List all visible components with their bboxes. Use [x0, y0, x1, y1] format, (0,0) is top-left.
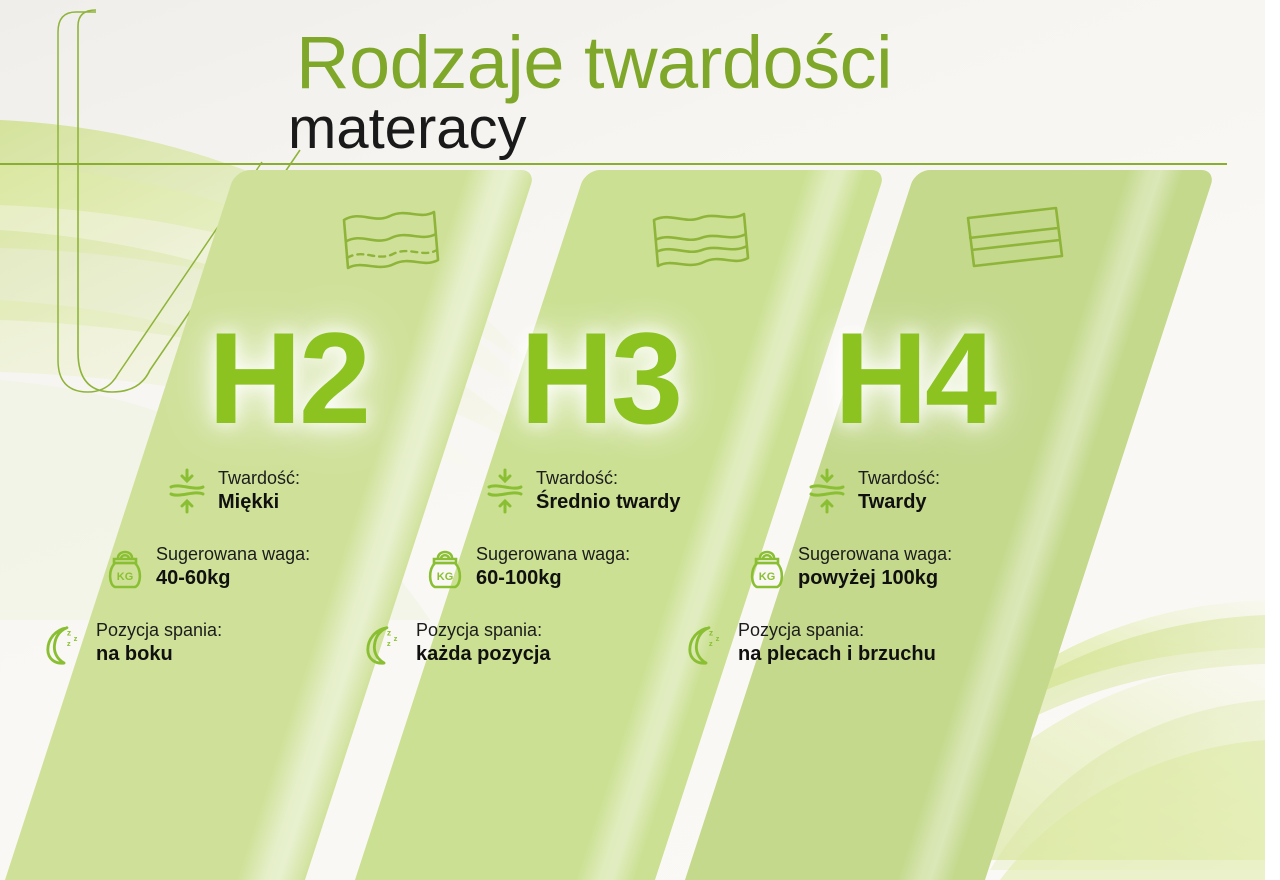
svg-text:z: z [67, 627, 71, 637]
fact-hardness-text-h3: Twardość: Średnio twardy [536, 468, 680, 514]
fact-weight-text-h4: Sugerowana waga: powyżej 100kg [798, 544, 952, 590]
fact-position-text-h4: Pozycja spania: na plecach i brzuchu [738, 620, 936, 666]
hardness-code-h4: H4 [834, 313, 1188, 443]
fact-hardness-text-h4: Twardość: Twardy [858, 468, 940, 514]
svg-text:z: z [394, 634, 398, 643]
kettlebell-kg-icon: KG [746, 543, 788, 591]
position-label-h3: Pozycja spania: [416, 620, 551, 642]
hardness-value-h2: Miękki [218, 490, 300, 514]
position-label-h2: Pozycja spania: [96, 620, 222, 642]
kettlebell-kg-icon: KG [424, 543, 466, 591]
compression-arrows-icon [166, 467, 208, 515]
fact-weight-text-h2: Sugerowana waga: 40-60kg [156, 544, 310, 590]
weight-value-h3: 60-100kg [476, 566, 630, 590]
hardness-label-h4: Twardość: [858, 468, 940, 490]
kettlebell-kg-text: KG [117, 571, 134, 583]
weight-label-h4: Sugerowana waga: [798, 544, 952, 566]
hardness-label-h3: Twardość: [536, 468, 680, 490]
fact-hardness-text-h2: Twardość: Miękki [218, 468, 300, 514]
svg-text:z: z [709, 627, 713, 637]
weight-label-h3: Sugerowana waga: [476, 544, 630, 566]
weight-value-h4: powyżej 100kg [798, 566, 952, 590]
compression-arrows-icon [484, 467, 526, 515]
kettlebell-kg-icon: KG [104, 543, 146, 591]
svg-text:z: z [387, 627, 391, 637]
title-divider [0, 163, 1227, 165]
hardness-label-h2: Twardość: [218, 468, 300, 490]
fact-position-text-h2: Pozycja spania: na boku [96, 620, 222, 666]
compression-arrows-icon [806, 467, 848, 515]
svg-text:z: z [709, 639, 713, 648]
position-label-h4: Pozycja spania: [738, 620, 936, 642]
weight-label-h2: Sugerowana waga: [156, 544, 310, 566]
mattress-flat-icon [952, 190, 1072, 290]
position-value-h2: na boku [96, 642, 222, 666]
fact-weight-text-h3: Sugerowana waga: 60-100kg [476, 544, 630, 590]
title-main: Rodzaje twardości [296, 28, 892, 98]
facts-list-h4: Twardość: Twardy KG [768, 467, 1188, 667]
sleeping-moon-icon: z z z [364, 619, 406, 667]
weight-value-h2: 40-60kg [156, 566, 310, 590]
sleeping-moon-icon: z z z [44, 619, 86, 667]
hardness-value-h4: Twardy [858, 490, 940, 514]
mattress-stitch-dashed-line [347, 250, 437, 258]
svg-text:z: z [716, 634, 720, 643]
svg-text:z: z [67, 639, 71, 648]
svg-text:KG: KG [759, 571, 776, 583]
infographic-poster: Rodzaje twardości materacy H2 [0, 0, 1280, 880]
position-value-h4: na plecach i brzuchu [738, 642, 936, 666]
position-value-h3: każda pozycja [416, 642, 551, 666]
fact-weight-h4: KG Sugerowana waga: powyżej 100kg [746, 543, 1188, 591]
svg-text:z: z [74, 634, 78, 643]
column-content-h4: H4 Twardość [768, 190, 1188, 695]
title-sub: materacy [288, 100, 892, 158]
svg-text:KG: KG [437, 571, 454, 583]
poster-title: Rodzaje twardości materacy [296, 28, 892, 158]
fact-position-h4: z z z Pozycja spania: na plecach i brzuc… [686, 619, 1188, 667]
fact-position-text-h3: Pozycja spania: każda pozycja [416, 620, 551, 666]
mattress-wavy-dashed-icon [330, 190, 450, 290]
sleeping-moon-icon: z z z [686, 619, 728, 667]
mattress-wavy-icon [640, 190, 760, 290]
svg-text:z: z [387, 639, 391, 648]
hardness-value-h3: Średnio twardy [536, 490, 680, 514]
fact-hardness-h4: Twardość: Twardy [806, 467, 1188, 515]
